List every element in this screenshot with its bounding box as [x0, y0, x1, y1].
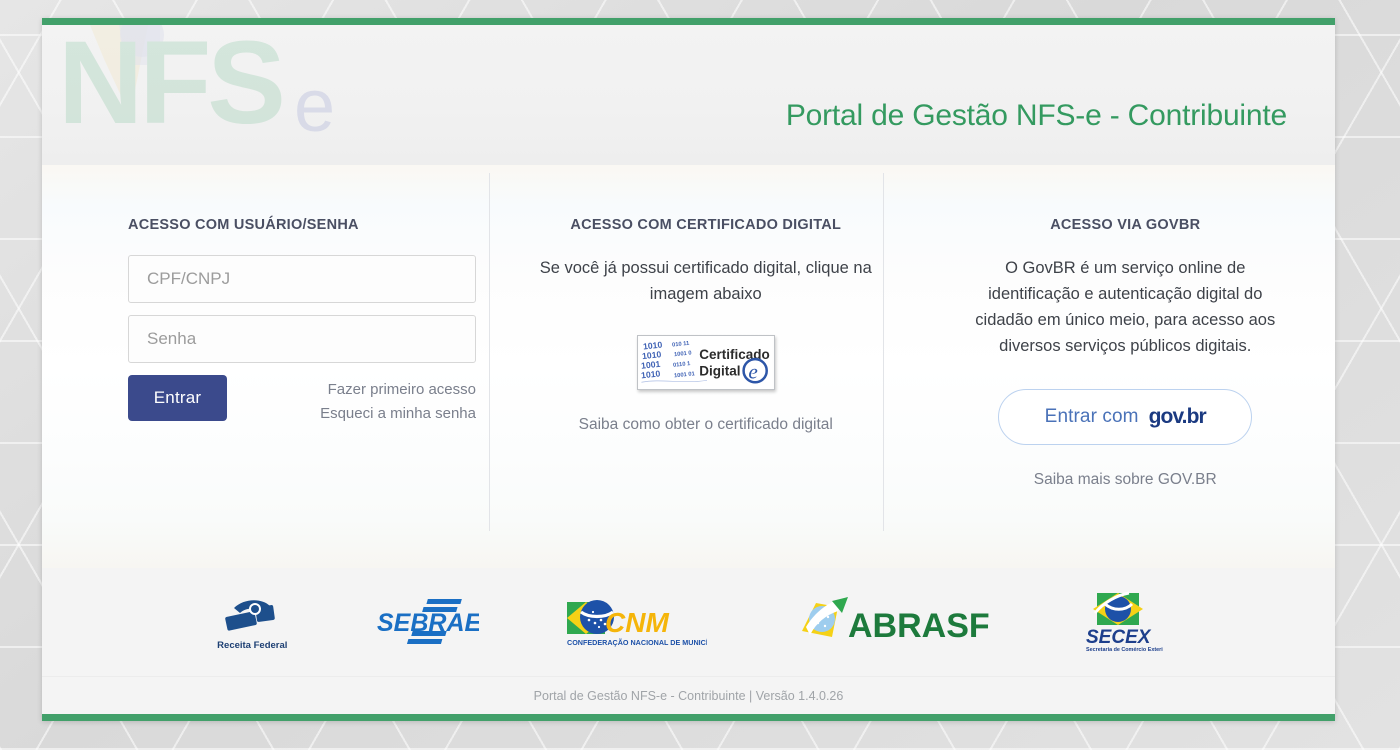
login-form: Entrar Fazer primeiro acesso Esqueci a m…: [128, 255, 476, 427]
entrar-button[interactable]: Entrar: [128, 375, 227, 421]
secex-label: SECEX: [1086, 627, 1152, 648]
secex-sublabel: Secretaria de Comércio Exterior: [1086, 647, 1163, 653]
govbr-description: O GovBR é um serviço online de identific…: [957, 255, 1293, 359]
govbr-title: ACESSO VIA GOVBR: [936, 217, 1316, 233]
login-card: NFS e Portal de Gestão NFS-e - Contribui…: [42, 18, 1335, 721]
svg-text:NFS: NFS: [58, 25, 282, 149]
column-govbr: ACESSO VIA GOVBR O GovBR é um serviço on…: [916, 217, 1336, 489]
user-password-title: ACESSO COM USUÁRIO/SENHA: [62, 217, 476, 233]
svg-text:e: e: [294, 64, 335, 147]
forgot-password-link[interactable]: Esqueci a minha senha: [320, 402, 476, 426]
govbr-button-lead: Entrar com: [1045, 406, 1139, 428]
column-digital-certificate: ACESSO COM CERTIFICADO DIGITAL Se você j…: [496, 217, 916, 434]
password-input[interactable]: [128, 315, 476, 363]
receita-federal-logo[interactable]: Receita Federal: [214, 586, 290, 658]
login-actions: Entrar Fazer primeiro acesso Esqueci a m…: [128, 375, 476, 427]
certificado-digital-line2: Digital: [699, 364, 740, 379]
card-bottom-accent-bar: [42, 714, 1335, 721]
secex-logo[interactable]: SECEX Secretaria de Comércio Exterior: [1077, 586, 1163, 658]
cnm-logo[interactable]: CNM CONFEDERAÇÃO NACIONAL DE MUNICÍPIOS: [563, 586, 707, 658]
govbr-help-link[interactable]: Saiba mais sobre GOV.BR: [936, 471, 1316, 489]
receita-federal-label: Receita Federal: [217, 640, 287, 651]
govbr-login-button[interactable]: Entrar com gov.br: [998, 389, 1252, 445]
footer-version-text: Portal de Gestão NFS-e - Contribuinte | …: [534, 689, 844, 703]
cnm-label: CNM: [605, 607, 669, 638]
footer-bar: Portal de Gestão NFS-e - Contribuinte | …: [42, 676, 1335, 714]
cpf-cnpj-input[interactable]: [128, 255, 476, 303]
certificado-digital-badge[interactable]: 1010 010 11 1010 1001 0 1001 0110 1 1010…: [637, 335, 775, 390]
column-user-password: ACESSO COM USUÁRIO/SENHA Entrar Fazer pr…: [42, 217, 496, 427]
sebrae-logo[interactable]: SEBRAE: [375, 586, 479, 658]
govbr-button-brand: gov.br: [1149, 405, 1206, 429]
auth-help-links: Fazer primeiro acesso Esqueci a minha se…: [320, 375, 476, 427]
digital-certificate-title: ACESSO COM CERTIFICADO DIGITAL: [516, 217, 896, 233]
card-top-accent-bar: [42, 18, 1335, 25]
abrasf-logo[interactable]: ABRASF: [792, 586, 992, 658]
certificate-help-link[interactable]: Saiba como obter o certificado digital: [516, 416, 896, 434]
login-body: ACESSO COM USUÁRIO/SENHA Entrar Fazer pr…: [42, 165, 1335, 568]
first-access-link[interactable]: Fazer primeiro acesso: [320, 378, 476, 402]
abrasf-label: ABRASF: [848, 607, 990, 645]
sebrae-label: SEBRAE: [377, 609, 479, 637]
digital-certificate-description: Se você já possui certificado digital, c…: [532, 255, 880, 307]
cnm-sublabel: CONFEDERAÇÃO NACIONAL DE MUNICÍPIOS: [567, 638, 707, 647]
page-title: Portal de Gestão NFS-e - Contribuinte: [786, 99, 1287, 133]
partner-logo-strip: Receita Federal SEBRAE: [42, 568, 1335, 676]
nfse-logo: NFS e: [56, 25, 386, 149]
certificado-digital-e-mark: e: [748, 360, 757, 384]
card-header: NFS e Portal de Gestão NFS-e - Contribui…: [42, 25, 1335, 165]
svg-text:1010: 1010: [640, 369, 660, 381]
